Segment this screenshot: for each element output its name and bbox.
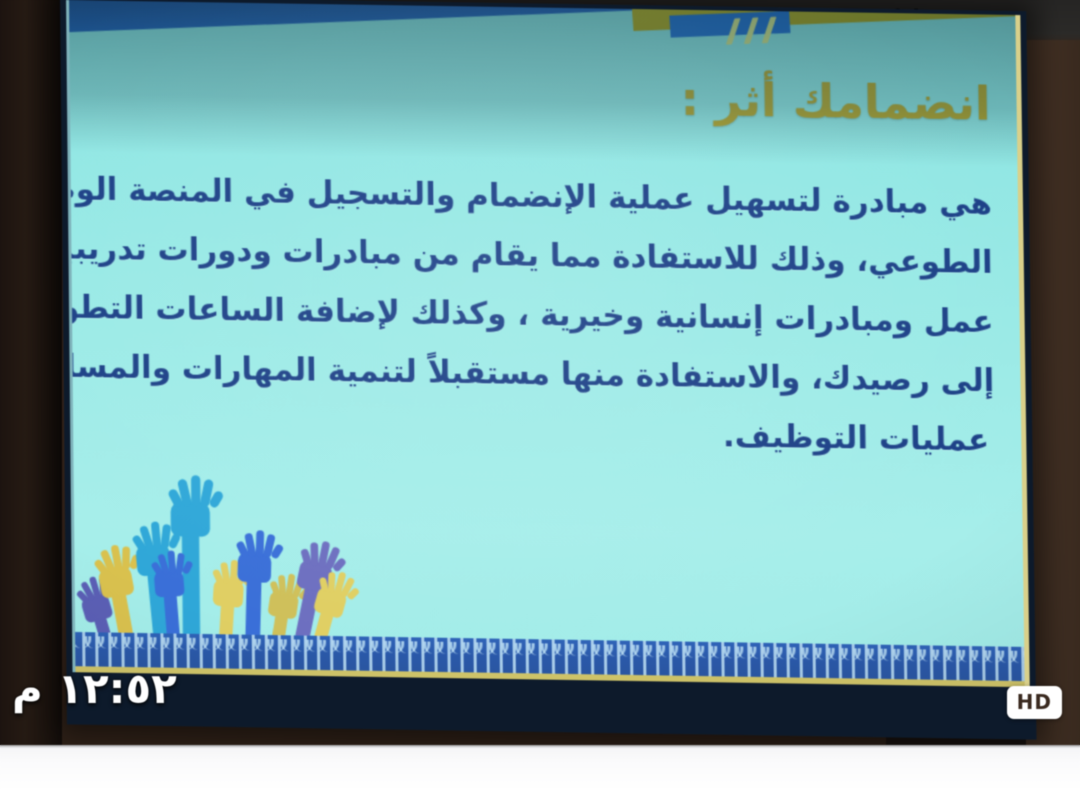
slide-body-line: عمليات التوظيف. <box>113 397 996 470</box>
slide-canvas: انضمامك أثر : هي مبادرة لتسهيل عملية الإ… <box>66 0 1030 687</box>
slide-body-text: هي مبادرة لتسهيل عملية الإنضمام والتسجيل… <box>111 161 996 471</box>
photo-bottom-white-strip <box>0 745 1080 790</box>
slide-title: انضمامك أثر : <box>680 72 991 131</box>
timestamp-overlay: ١٢:٥٢ م <box>12 664 177 713</box>
wall-left-dark-panel <box>0 0 62 760</box>
hd-quality-badge: HD <box>1007 686 1062 719</box>
projection-screen: انضمامك أثر : هي مبادرة لتسهيل عملية الإ… <box>60 0 1037 740</box>
slide-slash-accent-icon <box>729 16 801 45</box>
projected-slide-photo: ٥١ صفحة انضمامك أثر : هي مبادرة لتسهيل ع… <box>0 0 1080 790</box>
